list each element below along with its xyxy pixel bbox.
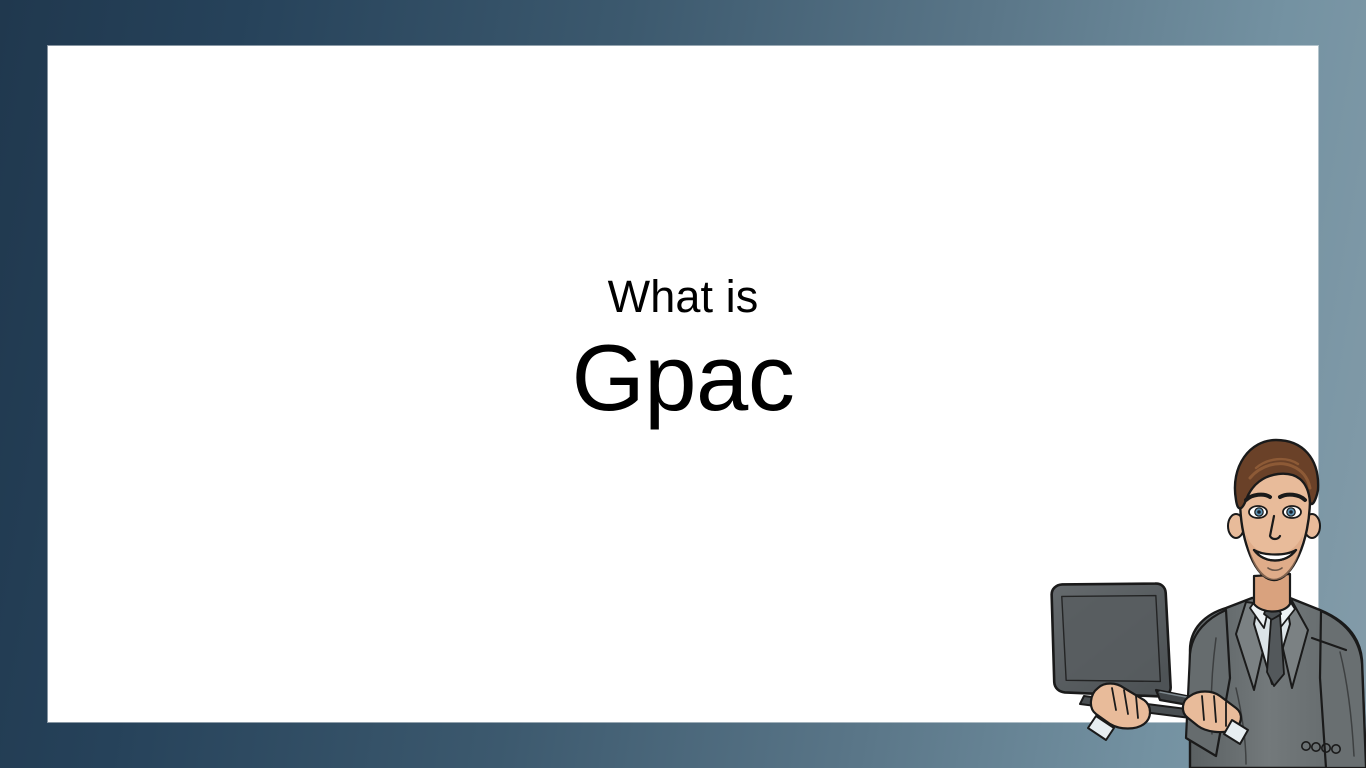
slide-content-panel	[48, 46, 1318, 722]
